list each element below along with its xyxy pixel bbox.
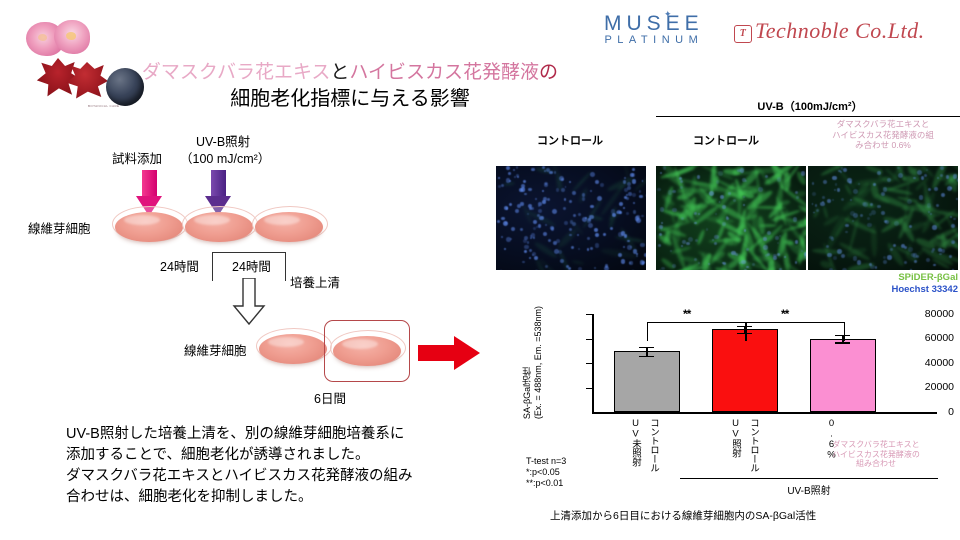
errorcap-top-1: [639, 347, 654, 348]
combination-label-line2: ハイビスカス花発酵液の組: [808, 130, 958, 141]
rose-center-highlight-2: [38, 34, 47, 41]
culture-dish-1: [112, 206, 186, 246]
transfer-arrow: [232, 278, 266, 331]
summary-description: UV-B照射した培養上清を、別の線維芽細胞培養系に 添加することで、細胞老化が誘…: [66, 424, 413, 508]
culture-dish-5: [330, 330, 404, 370]
rose-center-highlight: [66, 32, 76, 40]
musee-logo-line2: PLATINUM: [604, 34, 704, 47]
significance-bracket-1: [647, 322, 747, 341]
sparkle-icon: ✦: [664, 9, 672, 20]
y-axis-label-line2: (Ex. = 488nm, Em. =538nm): [533, 306, 543, 419]
technoble-badge-icon: T: [734, 25, 752, 43]
musee-platinum-logo: ✦ MUSEE PLATINUM: [604, 14, 704, 47]
bar-combination: [810, 339, 876, 413]
micrograph-label-combination: ダマスクバラ花エキスと ハイビスカス花発酵液の組 み合わせ 0.6%: [808, 119, 958, 151]
errorcap-bottom-3: [835, 342, 850, 343]
stats-p01: **:p<0.01: [526, 478, 566, 489]
chart-x-axis-label: UV-B照射: [680, 482, 938, 497]
bar-control-uv: [712, 329, 778, 412]
y-tick-label-20000: 20000: [892, 381, 954, 393]
chart-y-axis-label: SA-βGal活性 (Ex. = 488nm, Em. =538nm): [522, 306, 544, 419]
culture-dish-2: [182, 206, 256, 246]
micrograph-group-underline: [656, 116, 960, 117]
y-tick-label-80000: 80000: [892, 308, 954, 320]
significance-stars-2: **: [781, 307, 788, 321]
micrograph-label-control-1: コントロール: [498, 132, 642, 148]
x-label-3-combination: ダマスクバラ花エキスと ハイビスカス花発酵液の 組み合わせ: [792, 440, 960, 469]
y-tick-20000: [586, 388, 592, 389]
chart-caption: 上清添加から6日目における線維芽細胞内のSA-βGal活性: [550, 508, 816, 523]
title-part-rose: ダマスクバラ花エキス: [142, 62, 330, 83]
x-label-2a: UV照射: [728, 418, 742, 457]
chart-uvb-group-underline: [680, 478, 938, 479]
bar-control-no-uv: [614, 351, 680, 412]
title-line-1: ダマスクバラ花エキスとハイビスカス花発酵液の: [0, 60, 700, 86]
page-title: ダマスクバラ花エキスとハイビスカス花発酵液の 細胞老化指標に与える影響: [0, 60, 700, 112]
errorcap-bottom-1: [639, 356, 654, 357]
micrograph-panel-combination: [808, 166, 958, 270]
time-label-6d: 6日間: [314, 388, 346, 407]
title-line-2: 細胞老化指標に与える影響: [0, 86, 700, 112]
combination-label-line3: み合わせ 0.6%: [808, 140, 958, 151]
y-tick-80000: [586, 314, 592, 315]
technoble-logo: TTechnoble Co.Ltd.: [734, 18, 925, 44]
legend-hoechst: Hoechst 33342: [808, 284, 958, 296]
combination-label-line1: ダマスクバラ花エキスと: [808, 119, 958, 130]
x-label-1b: コントロール: [646, 418, 660, 472]
y-axis-label-line1: SA-βGal活性: [522, 367, 532, 419]
y-tick-label-60000: 60000: [892, 332, 954, 344]
technoble-logo-text: Technoble Co.Ltd.: [755, 18, 925, 43]
fibroblast-label-top: 線維芽細胞: [28, 218, 91, 237]
supernatant-bracket: [212, 252, 286, 281]
schematic-uvb-label-line2: （100 mJ/cm²）: [180, 148, 270, 167]
red-arrow-svg: [418, 336, 480, 370]
significance-stars-1: **: [683, 307, 690, 321]
time-label-24h-1: 24時間: [160, 256, 199, 275]
title-part-hibiscus: ハイビスカス花発酵液: [349, 62, 539, 83]
chart-x-axis: [592, 412, 937, 414]
x-label-3-line2: ハイビスカス花発酵液の: [792, 450, 960, 460]
result-red-arrow: [418, 336, 480, 375]
stats-p05: *:p<0.05: [526, 467, 566, 478]
micrograph-label-control-2: コントロール: [654, 132, 798, 148]
y-tick-label-40000: 40000: [892, 357, 954, 369]
micrograph-panel-control-uv: [656, 166, 806, 270]
x-label-3-line3: 組み合わせ: [792, 459, 960, 469]
significance-bracket-2: [745, 322, 845, 341]
y-tick-60000: [586, 339, 592, 340]
micrograph-group-header: UV-B（100mJ/cm²）: [660, 98, 960, 114]
culture-dish-3: [252, 206, 326, 246]
legend-spider-bgal: SPiDER-βGal: [808, 272, 958, 284]
micrograph-panel-control-no-uv: [496, 166, 646, 270]
stats-ttest: T-test n=3: [526, 456, 566, 467]
chart-y-axis: [592, 314, 594, 412]
y-tick-40000: [586, 363, 592, 364]
bar-chart: SA-βGal活性 (Ex. = 488nm, Em. =538nm) 8000…: [520, 300, 960, 540]
supernatant-label: 培養上清: [290, 272, 340, 291]
musee-logo-line1: MUSEE: [604, 14, 704, 34]
x-label-2b: コントロール: [746, 418, 760, 472]
fibroblast-label-bottom: 線維芽細胞: [184, 340, 247, 359]
title-part-no: の: [539, 62, 558, 83]
culture-dish-4: [256, 328, 330, 368]
schematic-sample-add-label: 試料添加: [112, 148, 162, 167]
x-label-1a: UV未照射: [628, 418, 642, 466]
title-part-and: と: [330, 62, 349, 83]
transfer-arrow-svg: [232, 278, 266, 326]
fluorescence-legend: SPiDER-βGal Hoechst 33342: [808, 272, 958, 296]
chart-statistics-note: T-test n=3 *:p<0.05 **:p<0.01: [526, 456, 566, 489]
y-tick-label-0: 0: [892, 406, 954, 418]
x-label-3-line1: ダマスクバラ花エキスと: [792, 440, 960, 450]
